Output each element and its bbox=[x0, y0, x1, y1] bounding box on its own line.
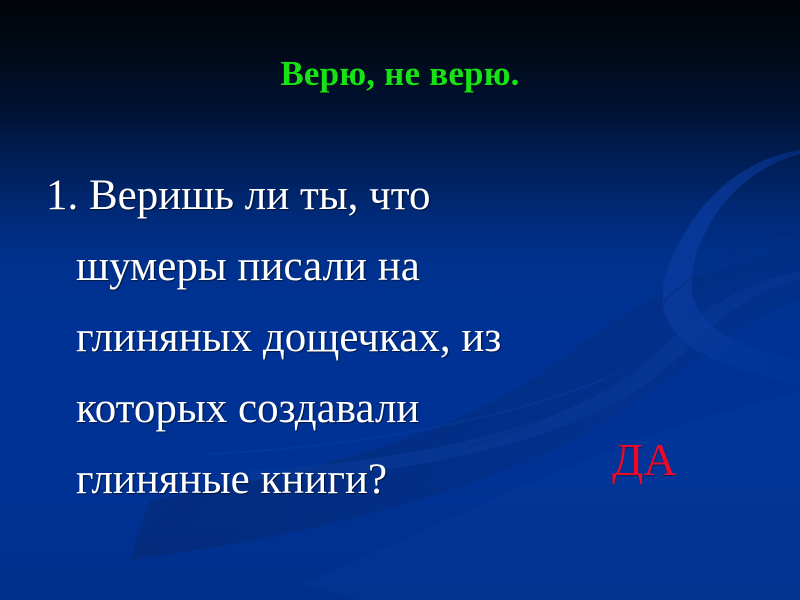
question-text-block: 1. Веришь ли ты, что шумеры писали на гл… bbox=[46, 160, 666, 515]
slide-title: Верю, не верю. bbox=[0, 56, 800, 93]
question-line-3: глиняных дощечках, из bbox=[46, 302, 666, 373]
question-line-2: шумеры писали на bbox=[46, 231, 666, 302]
question-line-5: глиняные книги? bbox=[46, 444, 666, 515]
question-line-1: 1. Веришь ли ты, что bbox=[46, 160, 666, 231]
presentation-slide: Верю, не верю. 1. Веришь ли ты, что шуме… bbox=[0, 0, 800, 600]
question-line-4: которых создавали bbox=[46, 373, 666, 444]
answer-label: ДА bbox=[612, 432, 677, 488]
